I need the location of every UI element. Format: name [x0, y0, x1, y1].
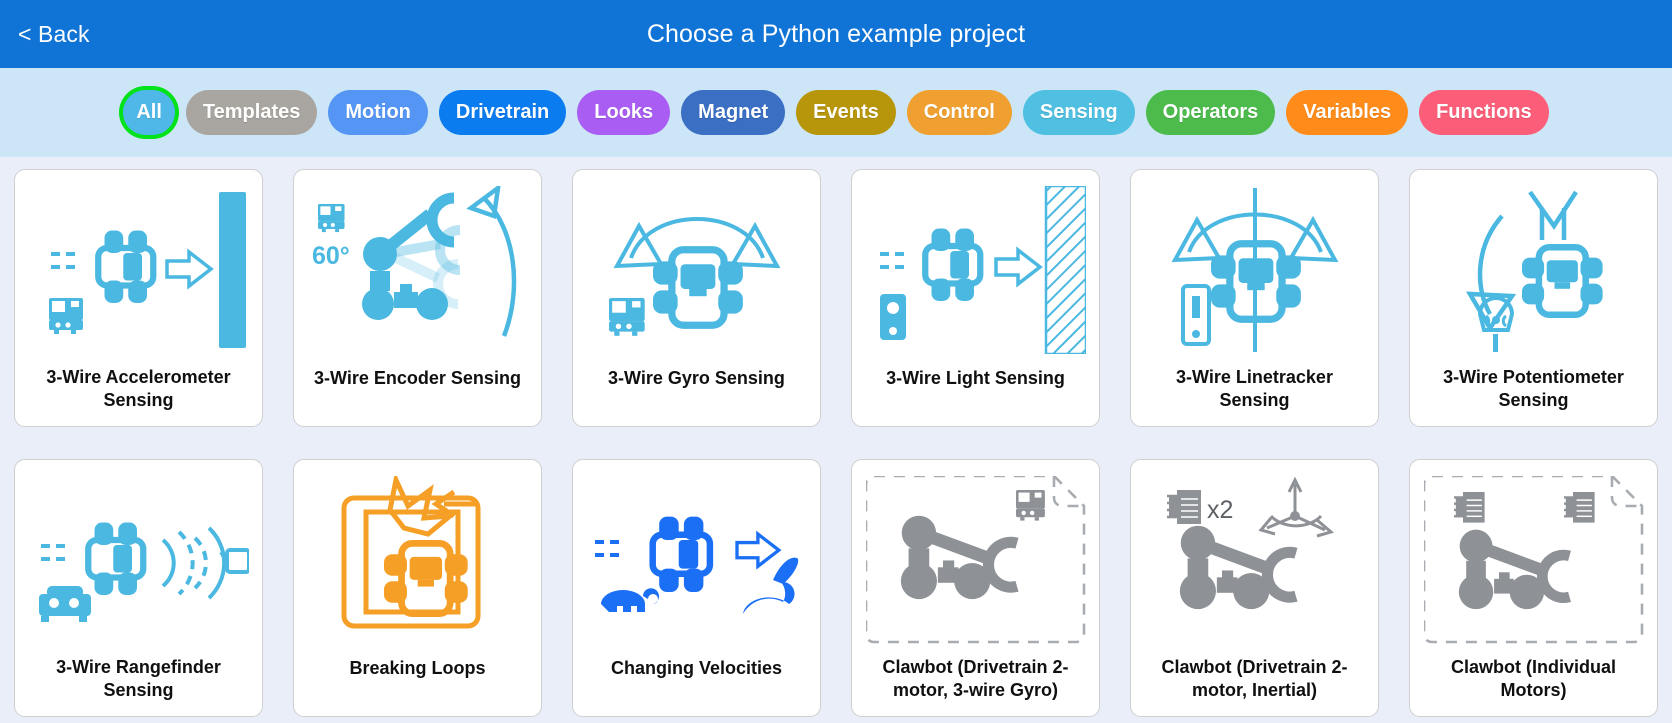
filter-chip-label: Functions — [1436, 101, 1532, 124]
example-project-label: 3-Wire Encoder Sensing — [294, 367, 541, 426]
light-icon — [852, 170, 1099, 367]
filter-chip-label: Sensing — [1040, 101, 1118, 124]
filter-chip-label: Variables — [1303, 101, 1391, 124]
app-header: < Back Choose a Python example project — [0, 0, 1672, 68]
filter-chip-drivetrain[interactable]: Drivetrain — [439, 90, 566, 135]
example-project-card[interactable]: Changing Velocities — [572, 459, 821, 717]
example-project-card[interactable]: Clawbot (Individual Motors) — [1409, 459, 1658, 717]
clawbot-motors-icon — [1410, 460, 1657, 656]
filter-chip-templates[interactable]: Templates — [186, 90, 317, 135]
category-filter-bar: AllTemplatesMotionDrivetrainLooksMagnetE… — [0, 68, 1672, 157]
example-project-label: 3-Wire Gyro Sensing — [573, 367, 820, 426]
example-project-card[interactable]: Clawbot (Drivetrain 2-motor, 3-wire Gyro… — [851, 459, 1100, 717]
velocities-icon — [573, 460, 820, 657]
filter-chip-label: Magnet — [698, 101, 768, 124]
example-project-card[interactable]: 3-Wire Rangefinder Sensing — [14, 459, 263, 717]
example-project-label: 3-Wire Linetracker Sensing — [1131, 366, 1378, 426]
filter-chip-control[interactable]: Control — [907, 90, 1012, 135]
linetracker-icon — [1131, 170, 1378, 366]
filter-chip-operators[interactable]: Operators — [1146, 90, 1276, 135]
example-project-label: Clawbot (Individual Motors) — [1410, 656, 1657, 716]
filter-chip-label: Motion — [345, 101, 411, 124]
filter-chip-all[interactable]: All — [123, 90, 175, 135]
example-project-label: 3-Wire Rangefinder Sensing — [15, 656, 262, 716]
filter-chip-magnet[interactable]: Magnet — [681, 90, 785, 135]
filter-chip-label: Drivetrain — [456, 101, 549, 124]
example-project-card[interactable]: Breaking Loops — [293, 459, 542, 717]
filter-chip-motion[interactable]: Motion — [328, 90, 428, 135]
clawbot-gyro-icon — [852, 460, 1099, 656]
filter-chip-label: Control — [924, 101, 995, 124]
filter-chip-sensing[interactable]: Sensing — [1023, 90, 1135, 135]
filter-chip-label: Looks — [594, 101, 653, 124]
example-project-card[interactable]: 3-Wire Accelerometer Sensing — [14, 169, 263, 427]
example-project-card[interactable]: 3-Wire Gyro Sensing — [572, 169, 821, 427]
filter-chip-label: Events — [813, 101, 879, 124]
clawbot-inertial-icon: x2 — [1131, 460, 1378, 656]
svg-text:x2: x2 — [1207, 496, 1233, 524]
example-project-label: 3-Wire Potentiometer Sensing — [1410, 366, 1657, 426]
potentiometer-icon — [1410, 170, 1657, 366]
gyro-icon — [573, 170, 820, 367]
example-project-card[interactable]: 60° 3-Wire Encoder Sensing — [293, 169, 542, 427]
example-project-label: Clawbot (Drivetrain 2-motor, 3-wire Gyro… — [852, 656, 1099, 716]
filter-chip-functions[interactable]: Functions — [1419, 90, 1549, 135]
filter-chip-label: Templates — [203, 101, 300, 124]
filter-chip-label: All — [136, 101, 162, 124]
rangefinder-icon — [15, 460, 262, 656]
filter-chip-label: Operators — [1163, 101, 1259, 124]
example-project-card[interactable]: x2 Clawbot (Drivetrain 2-motor, Inertial… — [1130, 459, 1379, 717]
filter-chip-looks[interactable]: Looks — [577, 90, 670, 135]
example-project-card[interactable]: 3-Wire Linetracker Sensing — [1130, 169, 1379, 427]
filter-chip-variables[interactable]: Variables — [1286, 90, 1408, 135]
page-title: Choose a Python example project — [0, 20, 1672, 49]
example-project-label: Changing Velocities — [573, 657, 820, 716]
encoder-icon: 60° — [294, 170, 541, 367]
example-project-label: 3-Wire Light Sensing — [852, 367, 1099, 426]
example-project-card[interactable]: 3-Wire Potentiometer Sensing — [1409, 169, 1658, 427]
example-project-label: 3-Wire Accelerometer Sensing — [15, 366, 262, 426]
accelerometer-icon — [15, 170, 262, 366]
example-project-card[interactable]: 3-Wire Light Sensing — [851, 169, 1100, 427]
svg-text:60°: 60° — [312, 242, 350, 270]
filter-chip-events[interactable]: Events — [796, 90, 896, 135]
breaking-loops-icon — [294, 460, 541, 657]
example-project-label: Clawbot (Drivetrain 2-motor, Inertial) — [1131, 656, 1378, 716]
example-project-grid: 3-Wire Accelerometer Sensing 60° 3-Wire … — [0, 157, 1672, 717]
back-button[interactable]: < Back — [8, 0, 100, 68]
example-project-label: Breaking Loops — [294, 657, 541, 716]
